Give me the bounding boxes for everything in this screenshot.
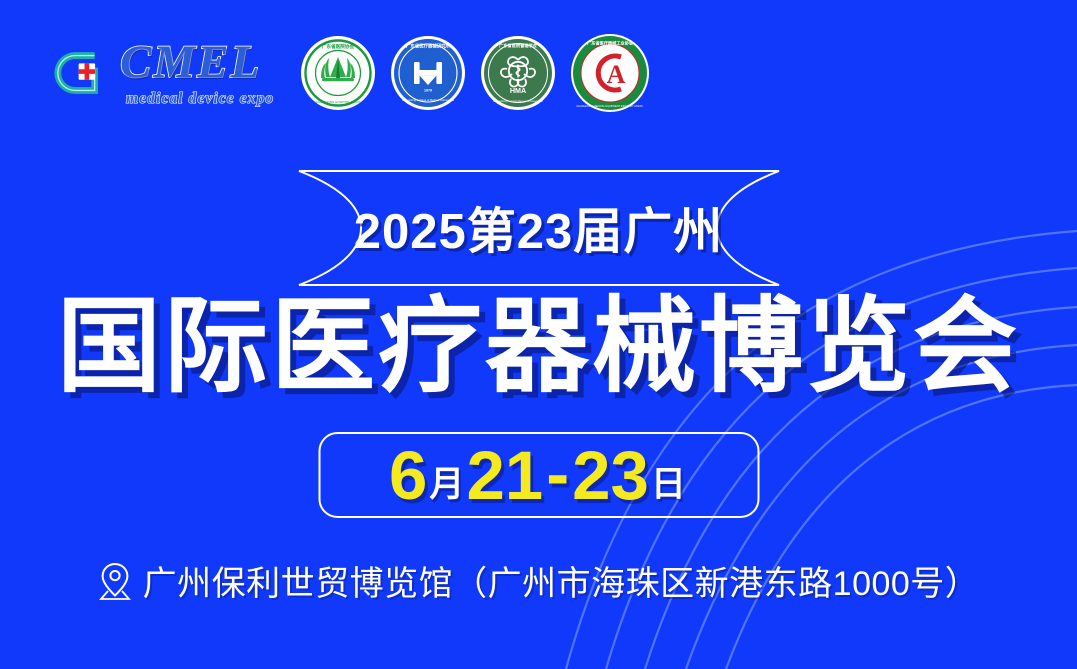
badge-guangdong-institute-medical-instruments: 广东省医疗器械研究所 1979 Guangdong Institute of M… bbox=[390, 35, 466, 111]
badge-medical-equipment-industry-association: A 广东省医疗器械工业协会 GUANGDONG MEDICAL EQUIPMEN… bbox=[570, 33, 650, 113]
date-day-unit: 日 bbox=[651, 467, 686, 502]
date-day-end: 23 bbox=[572, 441, 649, 510]
badge-guangdong-hospital-association: 广东省医院协会 GUANGDONG HOSPITAL ASSOC. bbox=[300, 35, 376, 111]
expo-poster: CMEL medical device expo bbox=[0, 0, 1077, 669]
edition-ribbon: 2025第23届广州 bbox=[297, 168, 781, 288]
svg-text:GUANGDONG MEDICAL EQUIPMENT IN: GUANGDONG MEDICAL EQUIPMENT INDUSTRY ASS… bbox=[577, 105, 645, 108]
svg-text:广东省医疗器械研究所: 广东省医疗器械研究所 bbox=[406, 43, 451, 50]
svg-text:Guangdong Hospital Managers As: Guangdong Hospital Managers Association bbox=[493, 99, 543, 103]
cmel-brand-logo[interactable]: CMEL medical device expo bbox=[52, 31, 274, 115]
partner-badges: 广东省医院协会 GUANGDONG HOSPITAL ASSOC. bbox=[300, 33, 650, 113]
location-pin-icon bbox=[98, 561, 132, 601]
date-month-number: 6 bbox=[389, 441, 427, 510]
date-day-start: 21 bbox=[466, 441, 543, 510]
ribbon-label: 2025第23届广州 bbox=[297, 168, 781, 288]
date-month-unit: 月 bbox=[429, 467, 464, 502]
venue-text: 广州保利世贸博览馆（广州市海珠区新港东路1000号） bbox=[143, 556, 980, 605]
svg-text:广东省医疗器械工业协会: 广东省医疗器械工业协会 bbox=[587, 40, 634, 47]
svg-text:广东省医院协会: 广东省医院协会 bbox=[322, 43, 355, 50]
cmel-wordmark: CMEL bbox=[120, 39, 274, 86]
svg-text:广东省医院管理学会: 广东省医院管理学会 bbox=[499, 42, 538, 49]
svg-text:1979: 1979 bbox=[424, 89, 432, 93]
venue-line: 广州保利世贸博览馆（广州市海珠区新港东路1000号） bbox=[0, 556, 1077, 605]
svg-text:Guangdong Institute of Medical: Guangdong Institute of Medical Instrumen… bbox=[402, 98, 455, 102]
svg-text:GUANGDONG HOSPITAL ASSOC.: GUANGDONG HOSPITAL ASSOC. bbox=[315, 100, 363, 104]
badge-hospital-managers-association: 广东省医院管理学会 HMA Guangdong Hospital Manager… bbox=[480, 35, 556, 111]
svg-text:A: A bbox=[607, 60, 626, 89]
date-separator: - bbox=[546, 439, 569, 508]
svg-text:HMA: HMA bbox=[510, 86, 526, 95]
cmel-tagline: medical device expo bbox=[126, 91, 274, 107]
event-date-badge: 6 月 21 - 23 日 bbox=[318, 432, 759, 518]
cmel-cross-g-mark bbox=[52, 42, 114, 104]
header-logo-row: CMEL medical device expo bbox=[0, 0, 1077, 146]
page-title: 国际医疗器械博览会 bbox=[0, 293, 1077, 401]
